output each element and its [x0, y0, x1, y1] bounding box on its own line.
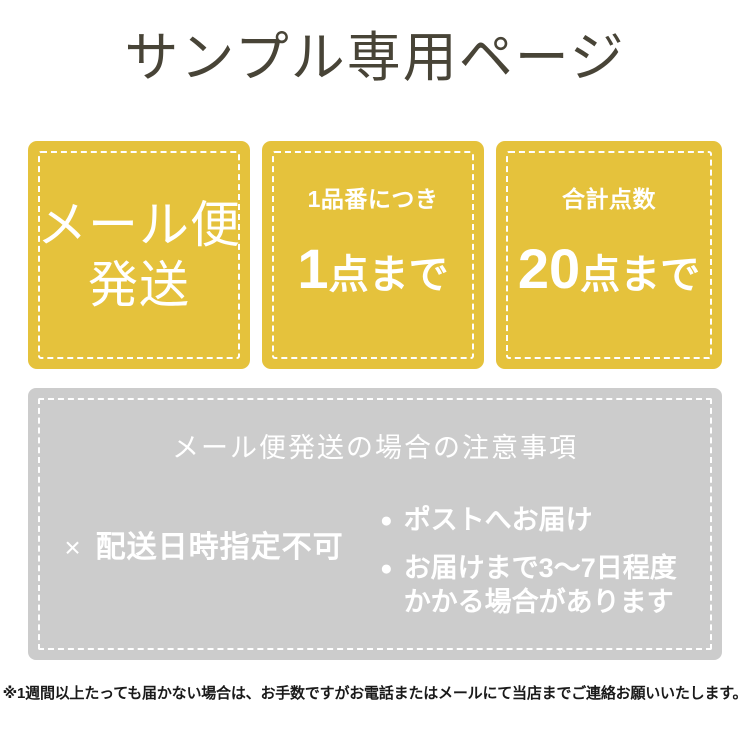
- cross-mark-icon: ×: [64, 531, 81, 565]
- card-total-limit-heading: 合計点数: [562, 186, 656, 212]
- card-per-item-limit-value: 1 点まで: [297, 240, 448, 304]
- list-item: ● ポストへお届け: [380, 503, 722, 539]
- notice-restriction: × 配送日時指定不可: [28, 503, 380, 565]
- card-total-limit-value: 20 点まで: [518, 240, 700, 304]
- bullet-text-line2: かかる場合があります: [404, 585, 677, 619]
- bullet-dot-icon: ●: [380, 551, 393, 587]
- card-per-item-limit-unit: 点まで: [329, 246, 449, 304]
- notice-panel: メール便発送の場合の注意事項 × 配送日時指定不可 ● ポストへお届け ● お届…: [28, 388, 722, 660]
- notice-bullet-list: ● ポストへお届け ● お届けまで3〜7日程度 かかる場合があります: [380, 503, 722, 631]
- notice-restriction-text: 配送日時指定不可: [96, 531, 344, 565]
- notice-panel-title: メール便発送の場合の注意事項: [28, 388, 722, 465]
- list-item: ● お届けまで3〜7日程度 かかる場合があります: [380, 551, 722, 619]
- notice-panel-body: × 配送日時指定不可 ● ポストへお届け ● お届けまで3〜7日程度 かかる場合…: [28, 503, 722, 631]
- card-shipping-method-line2: 発送: [88, 256, 190, 314]
- bullet-text-line1: お届けまで3〜7日程度: [404, 553, 677, 583]
- card-shipping-method-line1: メール便: [37, 196, 241, 254]
- bullet-text: お届けまで3〜7日程度 かかる場合があります: [404, 551, 677, 619]
- page-title: サンプル専用ページ: [0, 26, 750, 90]
- card-total-limit: 合計点数 20 点まで: [496, 141, 722, 369]
- card-total-limit-number: 20: [518, 240, 580, 298]
- footer-note: ※1週間以上たっても届かない場合は、お手数ですがお電話またはメールにて当店までご…: [0, 684, 750, 704]
- card-per-item-limit-number: 1: [297, 240, 328, 298]
- card-per-item-limit: 1品番につき 1 点まで: [262, 141, 484, 369]
- bullet-text: ポストへお届け: [404, 503, 593, 537]
- card-shipping-method: メール便 発送: [28, 141, 250, 369]
- feature-cards-row: メール便 発送 1品番につき 1 点まで 合計点数 20 点まで: [28, 141, 722, 369]
- card-per-item-limit-heading: 1品番につき: [308, 186, 439, 212]
- bullet-text-line1: ポストへお届け: [404, 505, 593, 535]
- card-total-limit-unit: 点まで: [580, 246, 700, 304]
- bullet-dot-icon: ●: [380, 503, 393, 539]
- card-shipping-method-text: メール便 発送: [37, 195, 241, 315]
